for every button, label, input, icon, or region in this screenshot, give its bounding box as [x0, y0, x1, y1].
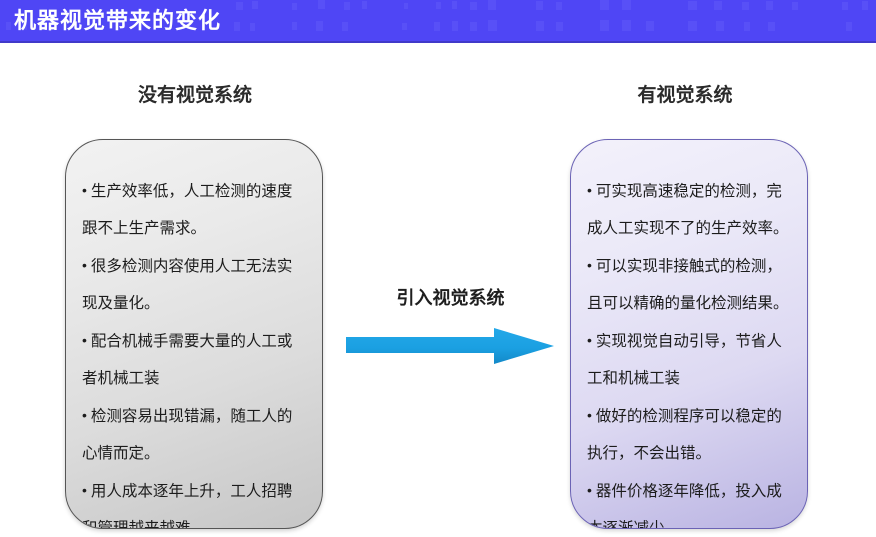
bullet-item-continuation: 和管理越来越难。 — [82, 510, 304, 529]
bullet-item-continuation: 成人工实现不了的生产效率。 — [587, 210, 789, 247]
left-panel-content: 生产效率低，人工检测的速度跟不上生产需求。很多检测内容使用人工无法实现及量化。配… — [66, 140, 322, 529]
right-column-heading: 有视觉系统 — [490, 80, 876, 107]
right-panel-content: 可实现高速稳定的检测，完成人工实现不了的生产效率。可以实现非接触式的检测，且可以… — [571, 140, 807, 529]
bullet-item-continuation: 且可以精确的量化检测结果。 — [587, 285, 789, 322]
bullet-item-continuation: 心情而定。 — [82, 435, 304, 472]
arrow-caption: 引入视觉系统 — [348, 284, 553, 310]
bullet-item: 实现视觉自动引导，节省人 — [587, 322, 789, 360]
bullet-item: 生产效率低，人工检测的速度 — [82, 172, 304, 210]
bullet-item: 做好的检测程序可以稳定的 — [587, 397, 789, 435]
bullet-item-continuation: 者机械工装 — [82, 360, 304, 397]
bullet-item: 可实现高速稳定的检测，完 — [587, 172, 789, 210]
bullet-item-continuation: 现及量化。 — [82, 285, 304, 322]
right-panel-with-vision-system: 可实现高速稳定的检测，完成人工实现不了的生产效率。可以实现非接触式的检测，且可以… — [570, 139, 808, 529]
left-panel-without-vision-system: 生产效率低，人工检测的速度跟不上生产需求。很多检测内容使用人工无法实现及量化。配… — [65, 139, 323, 529]
bullet-item-continuation: 执行，不会出错。 — [587, 435, 789, 472]
page-title: 机器视觉带来的变化 — [14, 6, 221, 36]
bullet-item: 器件价格逐年降低，投入成 — [587, 472, 789, 510]
bullet-item-continuation: 工和机械工装 — [587, 360, 789, 397]
header-bar: 机器视觉带来的变化 — [0, 0, 876, 43]
left-column-heading: 没有视觉系统 — [0, 80, 390, 107]
bullet-item: 配合机械手需要大量的人工或 — [82, 322, 304, 360]
arrow-right-icon — [344, 325, 556, 367]
bullet-item: 检测容易出现错漏，随工人的 — [82, 397, 304, 435]
bullet-item: 用人成本逐年上升，工人招聘 — [82, 472, 304, 510]
bullet-item-continuation: 本逐渐减少。 — [587, 510, 789, 529]
bullet-item: 很多检测内容使用人工无法实 — [82, 247, 304, 285]
bullet-item: 可以实现非接触式的检测， — [587, 247, 789, 285]
bullet-item-continuation: 跟不上生产需求。 — [82, 210, 304, 247]
